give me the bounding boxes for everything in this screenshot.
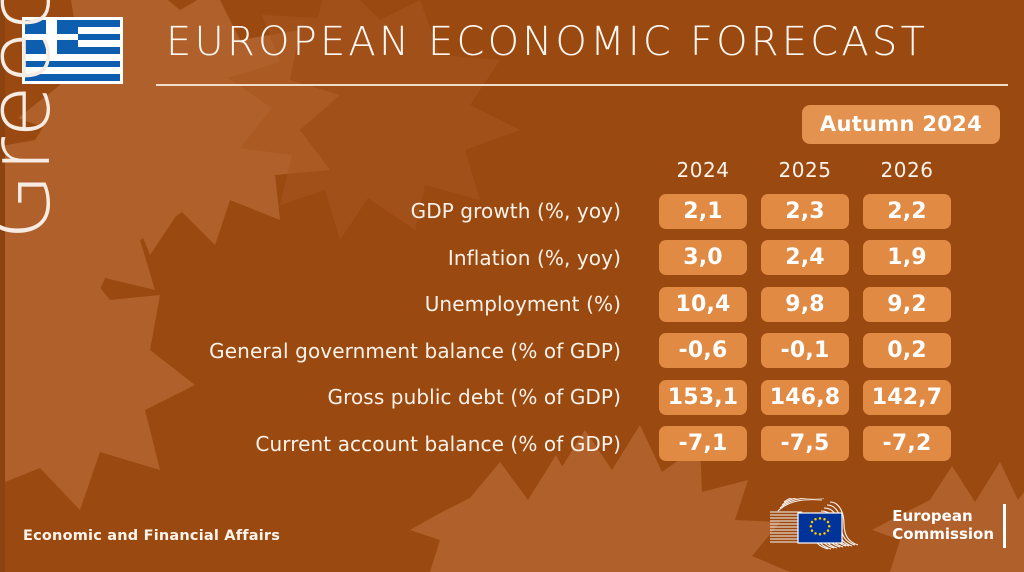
table-row: Gross public debt (% of GDP) 153,1 146,8…	[180, 374, 1008, 421]
table-header-row: 2024 2025 2026	[180, 152, 1008, 188]
season-badge: Autumn 2024	[802, 105, 1000, 144]
page-title: EUROPEAN ECONOMIC FORECAST	[166, 19, 928, 65]
value-cell: 10,4	[659, 287, 747, 322]
value-cell: 9,8	[761, 287, 849, 322]
table-row: Current account balance (% of GDP) -7,1 …	[180, 421, 1008, 468]
title-divider	[156, 84, 1008, 86]
value-cell: 9,2	[863, 287, 951, 322]
table-row: Unemployment (%) 10,4 9,8 9,2	[180, 281, 1008, 328]
table-row: General government balance (% of GDP) -0…	[180, 328, 1008, 375]
row-label-gross-public-debt: Gross public debt (% of GDP)	[180, 385, 645, 409]
column-header-2024: 2024	[659, 158, 747, 182]
ec-wordmark-line2: Commission	[892, 526, 994, 544]
forecast-table: 2024 2025 2026 GDP growth (%, yoy) 2,1 2…	[180, 152, 1008, 467]
ec-logo-bar	[1003, 504, 1006, 548]
row-label-unemployment: Unemployment (%)	[180, 292, 645, 316]
poster-header: EUROPEAN ECONOMIC FORECAST	[0, 0, 1024, 96]
value-cell: 0,2	[863, 333, 951, 368]
value-cell: -7,1	[659, 426, 747, 461]
department-label: Economic and Financial Affairs	[23, 528, 280, 544]
table-row: GDP growth (%, yoy) 2,1 2,3 2,2	[180, 188, 1008, 235]
row-label-inflation: Inflation (%, yoy)	[180, 246, 645, 270]
column-header-2026: 2026	[863, 158, 951, 182]
row-label-gdp-growth: GDP growth (%, yoy)	[180, 199, 645, 223]
column-header-2025: 2025	[761, 158, 849, 182]
value-cell: -7,2	[863, 426, 951, 461]
country-name: Greece	[0, 0, 70, 240]
value-cell: -7,5	[761, 426, 849, 461]
row-label-current-account-balance: Current account balance (% of GDP)	[180, 432, 645, 456]
forecast-poster: EUROPEAN ECONOMIC FORECAST Autumn 2024 G…	[0, 0, 1024, 572]
value-cell: 2,3	[761, 194, 849, 229]
value-cell: 146,8	[761, 380, 849, 415]
value-cell: 153,1	[659, 380, 747, 415]
value-cell: 2,2	[863, 194, 951, 229]
value-cell: 2,1	[659, 194, 747, 229]
value-cell: -0,6	[659, 333, 747, 368]
ec-wordmark-line1: European	[892, 508, 994, 526]
european-commission-logo: European Commission	[768, 496, 1006, 556]
table-row: Inflation (%, yoy) 3,0 2,4 1,9	[180, 235, 1008, 282]
ec-wordmark: European Commission	[892, 508, 994, 543]
value-cell: 142,7	[863, 380, 951, 415]
value-cell: 2,4	[761, 240, 849, 275]
value-cell: 3,0	[659, 240, 747, 275]
row-label-government-balance: General government balance (% of GDP)	[180, 339, 645, 363]
value-cell: 1,9	[863, 240, 951, 275]
ec-emblem-icon	[768, 498, 886, 554]
value-cell: -0,1	[761, 333, 849, 368]
